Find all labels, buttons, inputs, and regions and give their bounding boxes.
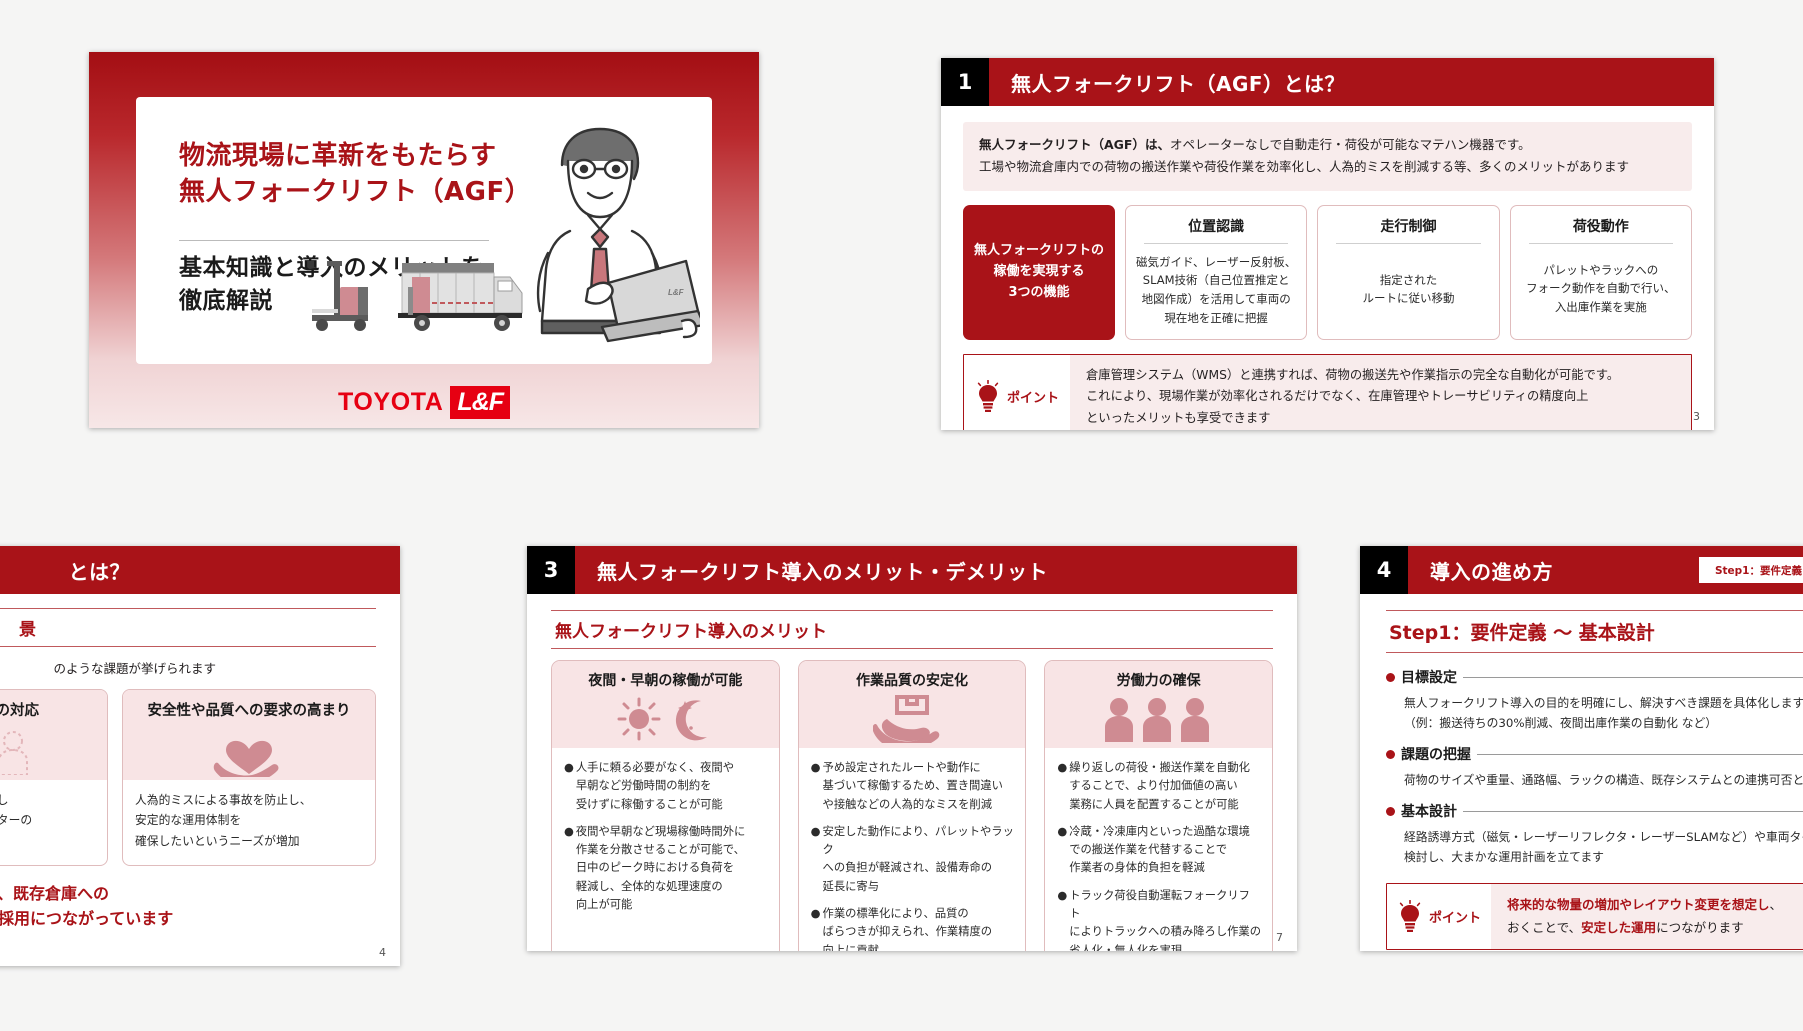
function-card-body: 指定された ルートに従い移動 [1328,253,1488,308]
sun-moon-icon [552,690,779,748]
slide-merits-demerits[interactable]: 3 無人フォークリフト導入のメリット・デメリット 無人フォークリフト導入のメリッ… [527,546,1297,951]
step-item-label: 目標設定 [1401,667,1457,687]
card-divider [1336,243,1480,244]
bullet-text: 人手に頼る必要がなく、夜間や 早朝など労働時間の制約を 受けずに稼働することが可… [576,759,734,814]
issue-card-body: ストや採用リスクが増大し フォークリフトオペレーターの 困難 [0,780,107,865]
bullet-dot: ● [811,759,821,814]
merit-card-head: 労働力の確保 [1045,661,1272,690]
footer-line-1: 立技術の進化により、既存倉庫への [0,881,376,907]
lead-line-2: 工場や物流倉庫内での荷物の搬送作業や荷役作業を効率化し、人為的ミスを削減する等、… [979,156,1676,178]
bullet-item: ●作業の標準化により、品質の ばらつきが抑えられ、作業精度の 向上に貢献 [811,905,1015,951]
step-item-basic-design: 基本設計 経路誘導方式（磁気・レーザーリフレクタ・レーザーSLAMなど）や車両タ… [1386,801,1803,867]
step-tab-bar: Step1：要件定義~基本設計 Step [1699,553,1803,587]
bullet-item: ●予め設定されたルートや動作に 基づいて稼働するため、置き間違い や接触などの人… [811,759,1015,814]
lead-bold: 無人フォークリフト（AGF）は、 [979,137,1170,152]
function-card-position[interactable]: 位置認識 磁気ガイド、レーザー反射板、 SLAM技術（自己位置推定と 地図作成）… [1125,205,1307,341]
step-item-goal: 目標設定 無人フォークリフト導入の目的を明確にし、解決すべき課題を具体化します … [1386,667,1803,733]
point-tag: ポイント [964,355,1070,430]
slide-header: とは？ [0,546,400,594]
slide-header: 1 無人フォークリフト（AGF）とは？ [941,58,1714,106]
slide-canvas: 物流現場に革新をもたらす 無人フォークリフト（AGF） 基本知識と導入のメリット… [0,0,1803,1031]
point-line-2: おくことで、安定した運用につながります [1507,917,1803,940]
slide-header-title: 無人フォークリフト（AGF）とは？ [989,58,1714,106]
slide-title-heading: 物流現場に革新をもたらす 無人フォークリフト（AGF） [179,139,531,211]
step-section-title: Step1：要件定義 ～ 基本設計 [1386,610,1803,653]
point-rest-1: 、 [1770,897,1783,912]
slide-implementation-steps[interactable]: 4 導入の進め方 Step1：要件定義~基本設計 Step Step1：要件定義… [1360,546,1803,951]
merit-card-night-operation[interactable]: 夜間・早朝の稼働が可能 [551,660,780,951]
heart-hand-icon [123,724,375,780]
merit-card-body: ●人手に頼る必要がなく、夜間や 早朝など労働時間の制約を 受けずに稼働することが… [552,748,779,936]
section-lead: のような課題が挙げられます [0,658,376,677]
step-item-head: 目標設定 [1386,667,1803,687]
footer-line-2: 多くの物流拠点での採用につながっています [0,906,376,932]
merit-card-body: ●予め設定されたルートや動作に 基づいて稼働するため、置き間違い や接触などの人… [799,748,1026,951]
box-hand-icon [799,690,1026,748]
function-card-row: 無人フォークリフトの 稼働を実現する 3つの機能 位置認識 磁気ガイド、レーザー… [963,205,1692,341]
merit-card-title: 作業品質の安定化 [805,670,1020,690]
lead-rest: オペレーターなしで自動走行・荷役が可能なマテハン機器です。 [1170,137,1531,152]
toyota-lf-logo: TOYOTAL&F [89,388,759,417]
section-title: 景 [0,608,376,647]
merit-card-row: 夜間・早朝の稼働が可能 [551,660,1273,951]
slide-agf-overview[interactable]: 1 無人フォークリフト（AGF）とは？ 無人フォークリフト（AGF）は、オペレー… [941,58,1714,430]
issue-card-safety-quality[interactable]: 安全性や品質への要求の高まり 人為的ミスによる事故を防止し、 安定的な運用体制を… [122,689,376,866]
card-divider [1144,243,1288,244]
step-item-issues: 課題の把握 荷物のサイズや重量、通路幅、ラックの構造、既存システムとの連携可否と… [1386,744,1803,790]
point-text-2a: おくことで、 [1507,920,1581,935]
function-card-body: パレットやラックへの フォーク動作を自動で行い、 入出庫作業を実施 [1521,253,1681,317]
merit-card-body: ●繰り返しの荷役・搬送作業を自動化 することで、より付加価値の高い 業務に人員を… [1045,748,1272,951]
title-line-1: 物流現場に革新をもたらす [179,139,531,175]
slide-header-title: とは？ [0,546,400,594]
bullet-text: 冷蔵・冷凍庫内といった過酷な環境 での搬送作業を代替することで 作業者の身体的負… [1069,823,1250,878]
point-label: ポイント [1429,907,1481,926]
step-item-head: 課題の把握 [1386,744,1803,764]
title-line-2: 無人フォークリフト（AGF） [179,175,531,211]
bullet-item: ●トラック荷役自動運転フォークリフト によりトラックへの積み降ろし作業の 省人化… [1057,887,1261,951]
issue-card-body: 人為的ミスによる事故を防止し、 安定的な運用体制を 確保したいというニーズが増加 [123,780,375,865]
step-item-head: 基本設計 [1386,801,1803,821]
slide-header-title: 無人フォークリフト導入のメリット・デメリット [575,546,1297,594]
bullet-dot-icon [1386,750,1395,759]
card-divider [1529,243,1673,244]
point-callout: ポイント 将来的な物量の増加やレイアウト変更を想定し、 おくことで、安定した運用… [1386,883,1803,950]
merit-card-quality-stability[interactable]: 作業品質の安定化 ●予め設定されたルートや動作に 基づいて稼働するため、置 [798,660,1027,951]
businessman-illustration: L&F [510,113,700,364]
merit-card-title: 夜間・早朝の稼働が可能 [558,670,773,690]
step-tab-1[interactable]: Step1：要件定義~基本設計 [1699,557,1803,583]
logo-lf-badge: L&F [450,386,510,419]
svg-text:L&F: L&F [668,288,685,297]
bullet-text: 予め設定されたルートや動作に 基づいて稼働するため、置き間違い や接触などの人為… [823,759,1003,814]
bullet-text: 作業の標準化により、品質の ばらつきが抑えられ、作業精度の 向上に貢献 [823,905,993,951]
point-tag: ポイント [1387,884,1491,949]
head-rule [1463,677,1803,678]
function-card-title: 位置認識 [1136,216,1296,236]
bullet-dot: ● [564,823,574,914]
step-item-body: 無人フォークリフト導入の目的を明確にし、解決すべき課題を具体化します （例：搬送… [1404,693,1803,733]
point-line-1: 将来的な物量の増加やレイアウト変更を想定し、 [1507,894,1803,917]
bullet-dot: ● [1057,759,1067,814]
function-card-title: 荷役動作 [1521,216,1681,236]
step-item-body: 荷物のサイズや重量、通路幅、ラックの構造、既存システムとの連携可否といった [1404,770,1803,790]
lead-line-1: 無人フォークリフト（AGF）は、オペレーターなしで自動走行・荷役が可能なマテハン… [979,134,1676,156]
point-text-2b: につながります [1656,920,1744,935]
bullet-dot: ● [811,823,821,896]
lightbulb-icon [1397,900,1423,934]
function-card-travel[interactable]: 走行制御 指定された ルートに従い移動 [1317,205,1499,341]
bullet-text: 繰り返しの荷役・搬送作業を自動化 することで、より付加価値の高い 業務に人員を配… [1069,759,1250,814]
merit-card-head: 夜間・早朝の稼働が可能 [552,661,779,690]
issue-card-title: 安全性や品質への要求の高まり [129,699,369,720]
bullet-dot: ● [1057,887,1067,951]
function-card-body: 磁気ガイド、レーザー反射板、 SLAM技術（自己位置推定と 地図作成）を活用して… [1136,253,1296,328]
merit-card-title: 労働力の確保 [1051,670,1266,690]
step-item-label: 課題の把握 [1401,744,1471,764]
point-callout: ポイント 倉庫管理システム（WMS）と連携すれば、荷物の搬送先や作業指示の完全な… [963,354,1692,430]
bullet-item: ●安定した動作により、パレットやラック への負担が軽減され、設備寿命の 延長に寄… [811,823,1015,896]
forklift-truck-illustration [306,247,536,342]
page-number: 4 [379,946,386,959]
issue-card-head: 人手不足への対応 [0,690,107,724]
three-people-icon [1045,690,1272,748]
slide-header: 3 無人フォークリフト導入のメリット・デメリット [527,546,1297,594]
bullet-dot: ● [1057,823,1067,878]
bullet-dot: ● [811,905,821,951]
function-card-title: 走行制御 [1328,216,1488,236]
merit-card-head: 作業品質の安定化 [799,661,1026,690]
function-card-handling[interactable]: 荷役動作 パレットやラックへの フォーク動作を自動で行い、 入出庫作業を実施 [1510,205,1692,341]
point-text: 将来的な物量の増加やレイアウト変更を想定し、 おくことで、安定した運用につながり… [1491,884,1803,949]
people-icon [0,724,107,780]
issue-card-head: 安全性や品質への要求の高まり [123,690,375,724]
logo-toyota-text: TOYOTA [338,388,443,416]
point-bold-1: 将来的な物量の増加やレイアウト変更を想定し [1507,897,1770,912]
head-rule [1477,754,1803,755]
lead-paragraph-box: 無人フォークリフト（AGF）は、オペレーターなしで自動走行・荷役が可能なマテハン… [963,122,1692,191]
point-bold-2: 安定した運用 [1581,920,1656,935]
bullet-item: ●繰り返しの荷役・搬送作業を自動化 することで、より付加価値の高い 業務に人員を… [1057,759,1261,814]
page-number: 7 [1276,931,1283,944]
slide-number-badge: 3 [527,546,575,594]
bullet-item: ●人手に頼る必要がなく、夜間や 早朝など労働時間の制約を 受けずに稼働することが… [564,759,768,814]
issue-card-row: 人手不足への対応 [0,689,376,866]
bullet-item: ●冷蔵・冷凍庫内といった過酷な環境 での搬送作業を代替することで 作業者の身体的… [1057,823,1261,878]
point-text: 倉庫管理システム（WMS）と連携すれば、荷物の搬送先や作業指示の完全な自動化が可… [1070,355,1691,430]
step-item-body: 経路誘導方式（磁気・レーザーリフレクタ・レーザーSLAMなど）や車両タイプ（リ … [1404,827,1803,867]
page-number: 3 [1693,410,1700,423]
bullet-dot: ● [564,759,574,814]
slide-footer-statement: 立技術の進化により、既存倉庫への 多くの物流拠点での採用につながっています [0,881,376,932]
bullet-text: トラック荷役自動運転フォークリフト によりトラックへの積み降ろし作業の 省人化・… [1069,887,1261,951]
bullet-text: 夜間や早朝など現場稼働時間外に 作業を分散させることが可能で、 日中のピーク時に… [576,823,745,914]
bullet-dot-icon [1386,807,1395,816]
slide-number-badge: 4 [1360,546,1408,594]
slide-title[interactable]: 物流現場に革新をもたらす 無人フォークリフト（AGF） 基本知識と導入のメリット… [89,52,759,428]
step-item-label: 基本設計 [1401,801,1457,821]
section-title: 無人フォークリフト導入のメリット [551,610,1273,649]
slide-header: 4 導入の進め方 Step1：要件定義~基本設計 Step [1360,546,1803,594]
bullet-dot-icon [1386,673,1395,682]
bullet-text: 安定した動作により、パレットやラック への負担が軽減され、設備寿命の 延長に寄与 [823,823,1015,896]
head-rule [1463,811,1803,812]
slide-number-badge: 1 [941,58,989,106]
three-functions-label: 無人フォークリフトの 稼働を実現する 3つの機能 [963,205,1115,341]
lightbulb-icon [975,380,1001,414]
slide-title-card: 物流現場に革新をもたらす 無人フォークリフト（AGF） 基本知識と導入のメリット… [136,97,712,364]
slide-background-issues[interactable]: とは？ 景 のような課題が挙げられます 人手不足への対応 [0,546,400,966]
point-label: ポイント [1007,387,1059,406]
title-divider [179,240,489,241]
bullet-item: ●夜間や早朝など現場稼働時間外に 作業を分散させることが可能で、 日中のピーク時… [564,823,768,914]
merit-card-workforce[interactable]: 労働力の確保 [1044,660,1273,951]
issue-card-title: 人手不足への対応 [0,699,101,720]
issue-card-labor-shortage[interactable]: 人手不足への対応 [0,689,108,866]
